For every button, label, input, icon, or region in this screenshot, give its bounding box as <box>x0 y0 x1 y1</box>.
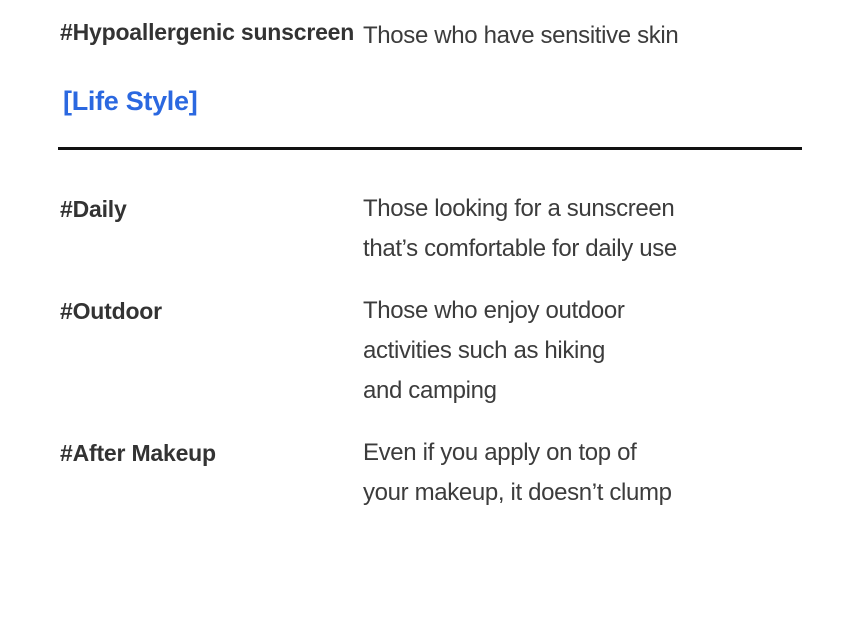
spec-description: Those looking for a sunscreen that’s com… <box>363 189 860 269</box>
spec-row: #Outdoor Those who enjoy outdoor activit… <box>0 291 860 411</box>
description-line: Those who enjoy outdoor <box>363 291 860 331</box>
spec-row: #After Makeup Even if you apply on top o… <box>0 433 860 513</box>
description-line: Even if you apply on top of <box>363 433 860 473</box>
top-spec-block: #Hypoallergenic sunscreen Those who have… <box>0 0 860 56</box>
spec-row: #Hypoallergenic sunscreen Those who have… <box>0 15 860 56</box>
spec-description: Those who enjoy outdoor activities such … <box>363 291 860 411</box>
spec-sheet-page: #Hypoallergenic sunscreen Those who have… <box>0 0 860 619</box>
spec-description: Those who have sensitive skin <box>363 15 860 56</box>
section-heading-life-style: [Life Style] <box>0 84 860 118</box>
spec-label-after-makeup: #After Makeup <box>60 433 363 471</box>
spec-label-outdoor: #Outdoor <box>60 291 363 329</box>
description-line: that’s comfortable for daily use <box>363 229 860 269</box>
description-line: activities such as hiking <box>363 331 860 371</box>
spec-description: Even if you apply on top of your makeup,… <box>363 433 860 513</box>
description-line: Those looking for a sunscreen <box>363 189 860 229</box>
spec-label-daily: #Daily <box>60 189 363 227</box>
lower-spec-block: #Daily Those looking for a sunscreen tha… <box>0 150 860 513</box>
description-line: Those who have sensitive skin <box>363 16 860 56</box>
spec-row: #Daily Those looking for a sunscreen tha… <box>0 189 860 269</box>
description-line: and camping <box>363 371 860 411</box>
spec-label-hypoallergenic-sunscreen: #Hypoallergenic sunscreen <box>60 15 363 50</box>
description-line: your makeup, it doesn’t clump <box>363 473 860 513</box>
